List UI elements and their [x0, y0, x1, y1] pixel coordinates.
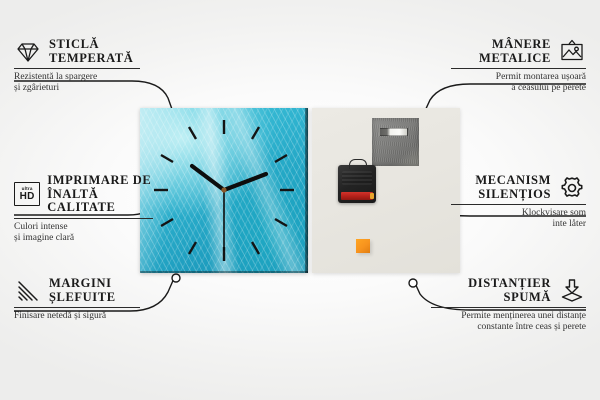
clock-center-cap [221, 187, 226, 192]
feature-title: MARGINI ȘLEFUITE [49, 277, 116, 304]
feature-subtitle: Permite menținerea unei distanțe constan… [431, 311, 586, 333]
infographic-canvas: STICLĂ TEMPERATĂ Rezistentă la spargere … [0, 0, 600, 400]
feature-title: MECANISM SILENȚIOS [475, 174, 551, 201]
feature-tempered-glass: STICLĂ TEMPERATĂ Rezistentă la spargere … [14, 38, 149, 94]
clock-back-panel [312, 108, 460, 273]
feature-foam-spacer: DISTANȚIER SPUMĂ Permite menținerea unei… [431, 277, 586, 333]
beveled-edges-icon [14, 279, 42, 303]
feature-subtitle: Finisare netedă și sigură [14, 311, 149, 322]
feature-subtitle-line1: Klockvisare som [451, 208, 586, 219]
feature-heading: MÂNERE METALICE [451, 38, 586, 65]
feature-heading: MARGINI ȘLEFUITE [14, 277, 149, 304]
glass-edge [305, 108, 308, 273]
feature-subtitle-line1: Finisare netedă și sigură [14, 311, 149, 322]
feature-silent-mechanism: MECANISM SILENȚIOS Klockvisare som inte … [451, 174, 586, 230]
ultra-hd-big-label: HD [20, 192, 35, 202]
product-photo [140, 108, 460, 273]
feature-polished-edges: MARGINI ȘLEFUITE Finisare netedă și sigu… [14, 277, 149, 322]
feature-title-line2: METALICE [479, 52, 551, 66]
feature-title-line2: SILENȚIOS [475, 188, 551, 202]
feature-subtitle: Culori intense și imagine clară [14, 222, 162, 244]
feature-heading: STICLĂ TEMPERATĂ [14, 38, 149, 65]
feature-subtitle-line1: Culori intense [14, 222, 162, 233]
feature-heading: MECANISM SILENȚIOS [451, 174, 586, 201]
feature-divider [431, 307, 586, 308]
feature-title-line1: DISTANȚIER [468, 277, 551, 291]
feature-subtitle-line1: Permite menținerea unei distanțe [431, 311, 586, 322]
clock-dial [140, 108, 308, 273]
clock-front-panel [140, 108, 308, 273]
feature-title-line1: IMPRIMARE DE [47, 174, 162, 188]
feature-divider [14, 307, 140, 308]
feature-subtitle: Permit montarea ușoară a ceasului pe per… [451, 72, 586, 94]
movement-hook [349, 159, 367, 169]
foam-spacer [356, 239, 370, 253]
feature-subtitle-line1: Permit montarea ușoară [451, 72, 586, 83]
feature-high-quality-print: ultra HD IMPRIMARE DE ÎNALTĂ CALITATE Cu… [14, 174, 162, 244]
feature-title-line1: MECANISM [475, 174, 551, 188]
feature-divider [14, 218, 153, 219]
feature-subtitle-line2: inte låter [451, 219, 586, 230]
feature-subtitle-line2: și imagine clară [14, 233, 162, 244]
foam-spacer-icon [558, 278, 586, 304]
feature-title-line2: ȘLEFUITE [49, 291, 116, 305]
leader-dot-edges [172, 274, 180, 282]
feature-divider [14, 68, 140, 69]
battery-terminal [370, 193, 374, 199]
feature-title-line2: ÎNALTĂ CALITATE [47, 188, 162, 215]
ultra-hd-icon: ultra HD [14, 182, 40, 206]
feature-title-line2: TEMPERATĂ [49, 52, 133, 66]
diamond-icon [14, 40, 42, 64]
leader-dot-spacer [409, 279, 417, 287]
clock-minute-hand [192, 166, 224, 190]
battery [341, 192, 373, 200]
picture-hanger-icon [558, 39, 586, 64]
feature-subtitle-line1: Rezistentă la spargere [14, 72, 149, 83]
metal-hanger-plate [372, 118, 419, 166]
feature-subtitle: Rezistentă la spargere și zgârieturi [14, 72, 149, 94]
feature-title: IMPRIMARE DE ÎNALTĂ CALITATE [47, 174, 162, 215]
feature-heading: DISTANȚIER SPUMĂ [431, 277, 586, 304]
quartz-movement [338, 165, 376, 203]
glass-bottom-edge [140, 271, 308, 273]
feature-divider [451, 68, 586, 69]
feature-title-line1: MÂNERE [479, 38, 551, 52]
feature-title-line1: MARGINI [49, 277, 116, 291]
feature-title-line1: STICLĂ [49, 38, 133, 52]
gear-icon [558, 175, 586, 201]
feature-subtitle-line2: constante între ceas și perete [431, 322, 586, 333]
feature-metal-handles: MÂNERE METALICE Permit montarea ușoară a… [451, 38, 586, 94]
hanger-slot [379, 128, 408, 136]
feature-title: STICLĂ TEMPERATĂ [49, 38, 133, 65]
feature-divider [451, 204, 586, 205]
feature-subtitle-line2: și zgârieturi [14, 83, 149, 94]
feature-title: MÂNERE METALICE [479, 38, 551, 65]
feature-heading: ultra HD IMPRIMARE DE ÎNALTĂ CALITATE [14, 174, 162, 215]
clock-hour-hand [224, 174, 266, 190]
feature-subtitle: Klockvisare som inte låter [451, 208, 586, 230]
movement-housing [342, 171, 372, 185]
feature-subtitle-line2: a ceasului pe perete [451, 83, 586, 94]
feature-title-line2: SPUMĂ [468, 291, 551, 305]
feature-title: DISTANȚIER SPUMĂ [468, 277, 551, 304]
